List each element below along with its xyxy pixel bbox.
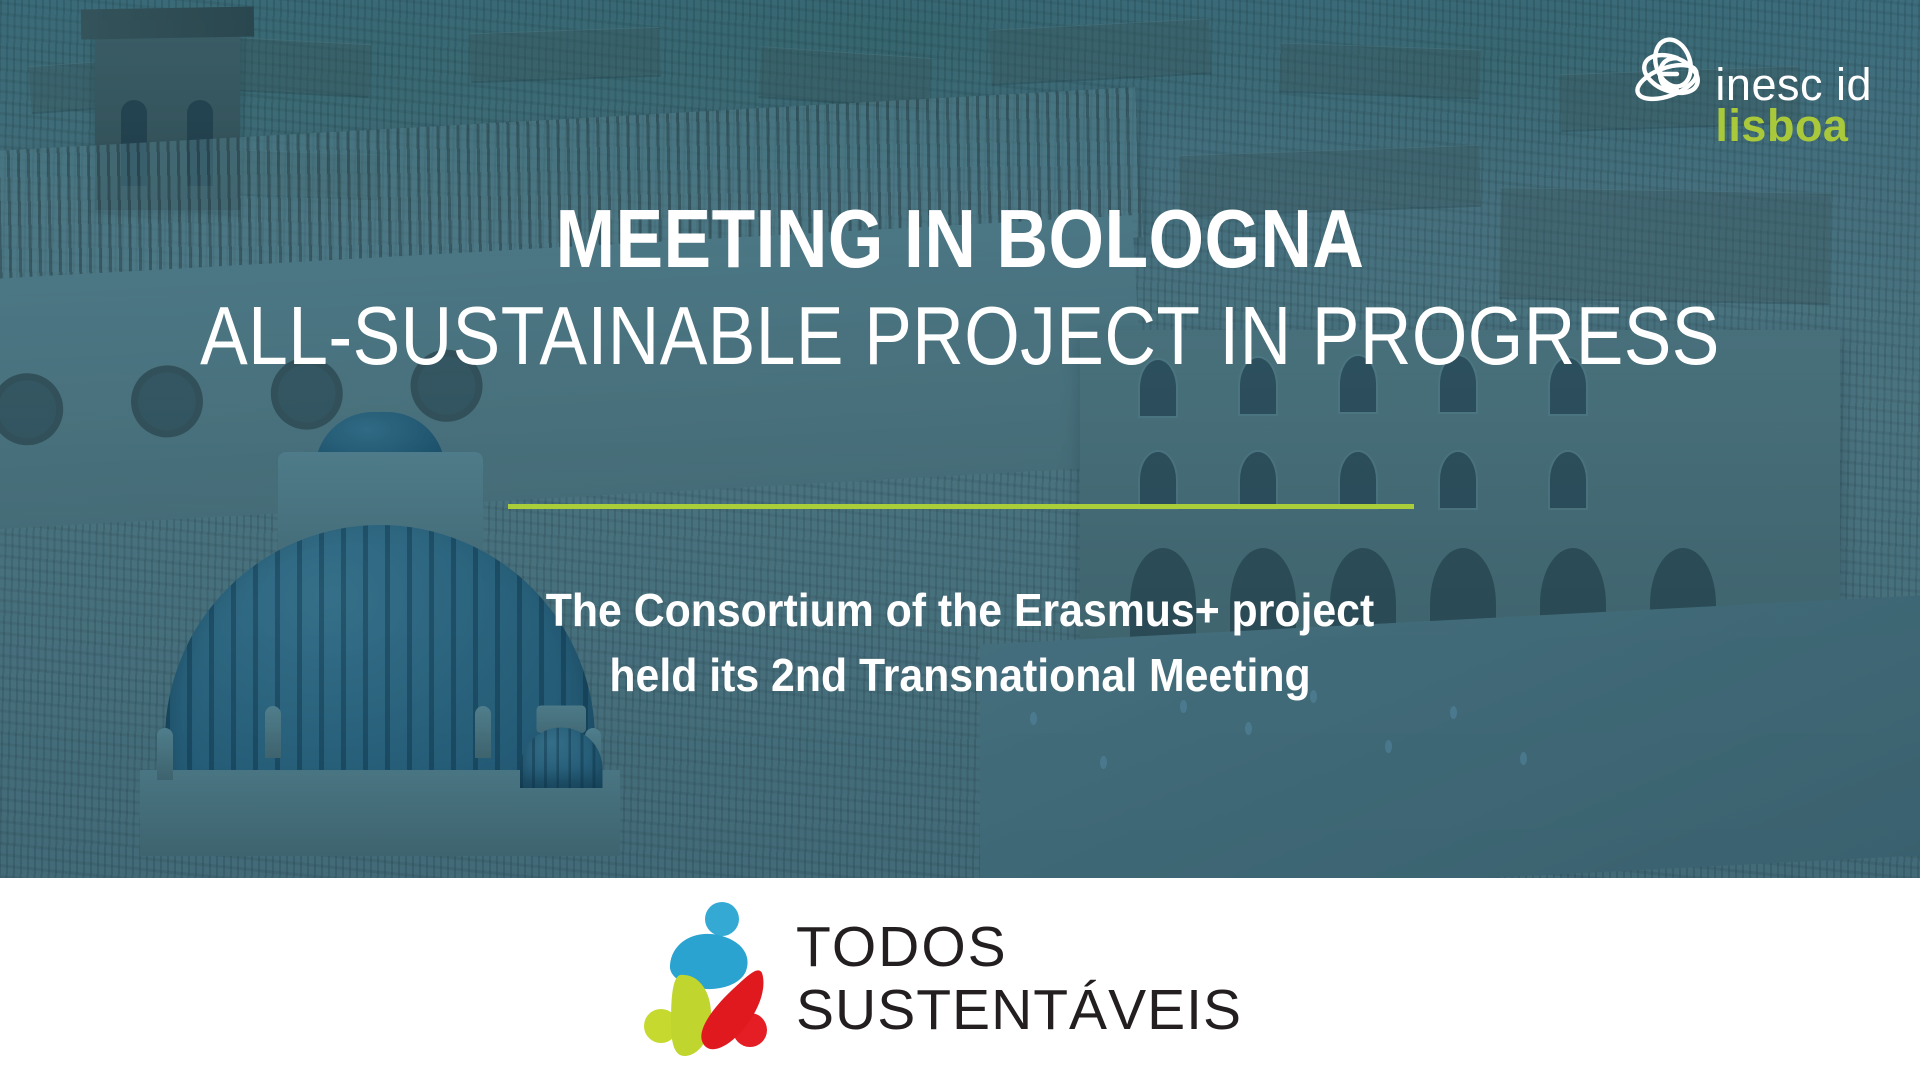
- footer-band: TODOS SUSTENTÁVEIS: [0, 878, 1920, 1080]
- subtitle-line-1: The Consortium of the Erasmus+ project: [67, 578, 1853, 643]
- inesc-orbital-atom-icon: [1633, 36, 1707, 120]
- teal-overlay-secondary: [0, 0, 1920, 878]
- todos-sustentaveis-logo: TODOS SUSTENTÁVEIS: [642, 899, 1242, 1059]
- headline-line-1: MEETING IN BOLOGNA: [134, 196, 1785, 282]
- headline-line-2: ALL-SUSTAINABLE PROJECT IN PROGRESS: [134, 290, 1785, 383]
- todos-wordmark: TODOS SUSTENTÁVEIS: [796, 919, 1242, 1039]
- todos-three-figures-icon: [642, 899, 770, 1059]
- inesc-wordmark: inesc id lisboa: [1715, 64, 1872, 147]
- todos-line-1: TODOS: [796, 919, 1242, 976]
- hero-banner: inesc id lisboa MEETING IN BOLOGNA ALL-S…: [0, 0, 1920, 878]
- inesc-name: inesc id: [1715, 64, 1872, 105]
- inesc-city: lisboa: [1715, 105, 1872, 146]
- headline-block: MEETING IN BOLOGNA ALL-SUSTAINABLE PROJE…: [0, 196, 1920, 383]
- subtitle-line-2: held its 2nd Transnational Meeting: [67, 643, 1853, 708]
- subtitle-block: The Consortium of the Erasmus+ project h…: [0, 578, 1920, 709]
- accent-divider: [508, 504, 1414, 509]
- inesc-id-logo: inesc id lisboa: [1633, 34, 1872, 147]
- todos-line-2: SUSTENTÁVEIS: [796, 982, 1242, 1039]
- presentation-slide: inesc id lisboa MEETING IN BOLOGNA ALL-S…: [0, 0, 1920, 1080]
